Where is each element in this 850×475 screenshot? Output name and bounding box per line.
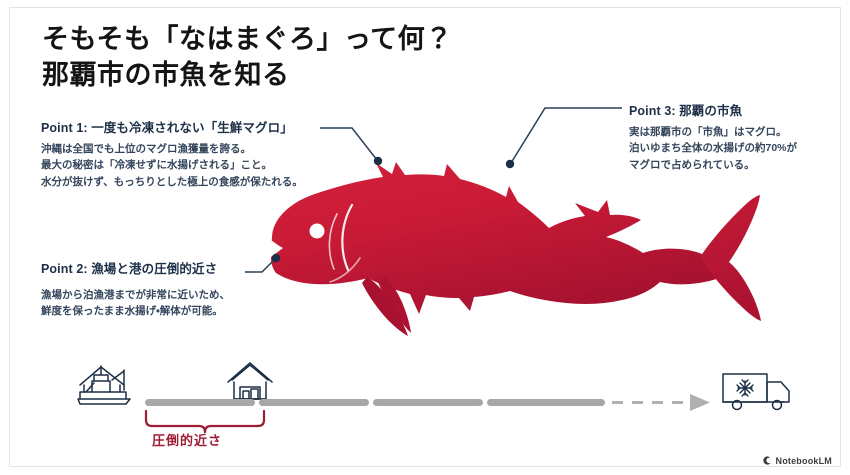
point-1-body-line-3: 水分が抜けず、もっちりとした極上の食感が保たれる。	[41, 174, 303, 190]
point-3-body-line-1: 実は那覇市の「市魚」はマグロ。	[629, 124, 797, 140]
point-2-heading: Point 2: 漁場と港の圧倒的近さ	[41, 258, 230, 277]
point-1-block: Point 1: 一度も冷凍されない「生鮮マグロ」 沖縄は全国でも上位のマグロ漁…	[41, 117, 303, 190]
title-line-1: そもそも「なはまぐろ」って何？	[42, 22, 642, 58]
infographic-canvas: そもそも「なはまぐろ」って何？ 那覇市の市魚を知る	[0, 0, 850, 475]
point-1-body-line-2: 最大の秘密は「冷凍せずに水揚げされる」こと。	[41, 157, 303, 173]
point-3-heading: Point 3: 那覇の市魚	[629, 100, 797, 119]
point-1-body-line-1: 沖縄は全国でも上位のマグロ漁獲量を誇る。	[41, 141, 303, 157]
title-line-2: 那覇市の市魚を知る	[42, 58, 642, 94]
notebooklm-logo-icon	[762, 455, 773, 466]
point-3-body-line-2: 泊いゆまち全体の水揚げの約70%が	[629, 140, 797, 156]
point-2-body: 漁場から泊漁港までが非常に近いため、 鮮度を保ったまま水揚げ・解体が可能。	[41, 287, 230, 320]
point-3-block: Point 3: 那覇の市魚 実は那覇市の「市魚」はマグロ。 泊いゆまち全体の水…	[629, 100, 797, 173]
point-2-body-line-2: 鮮度を保ったまま水揚げ・解体が可能。	[41, 303, 230, 319]
proximity-brace-label: 圧倒的近さ	[152, 430, 222, 449]
watermark-text: NotebookLM	[776, 456, 833, 466]
point-3-body-line-3: マグロで占められている。	[629, 157, 797, 173]
page-title: そもそも「なはまぐろ」って何？ 那覇市の市魚を知る	[42, 22, 642, 93]
point-1-heading: Point 1: 一度も冷凍されない「生鮮マグロ」	[41, 117, 303, 136]
point-2-body-line-1: 漁場から泊漁港までが非常に近いため、	[41, 287, 230, 303]
point-3-body: 実は那覇市の「市魚」はマグロ。 泊いゆまち全体の水揚げの約70%が マグロで占め…	[629, 124, 797, 173]
point-2-block: Point 2: 漁場と港の圧倒的近さ 漁場から泊漁港までが非常に近いため、 鮮…	[41, 258, 230, 320]
notebooklm-watermark: NotebookLM	[762, 455, 833, 466]
point-1-body: 沖縄は全国でも上位のマグロ漁獲量を誇る。 最大の秘密は「冷凍せずに水揚げされる」…	[41, 141, 303, 190]
